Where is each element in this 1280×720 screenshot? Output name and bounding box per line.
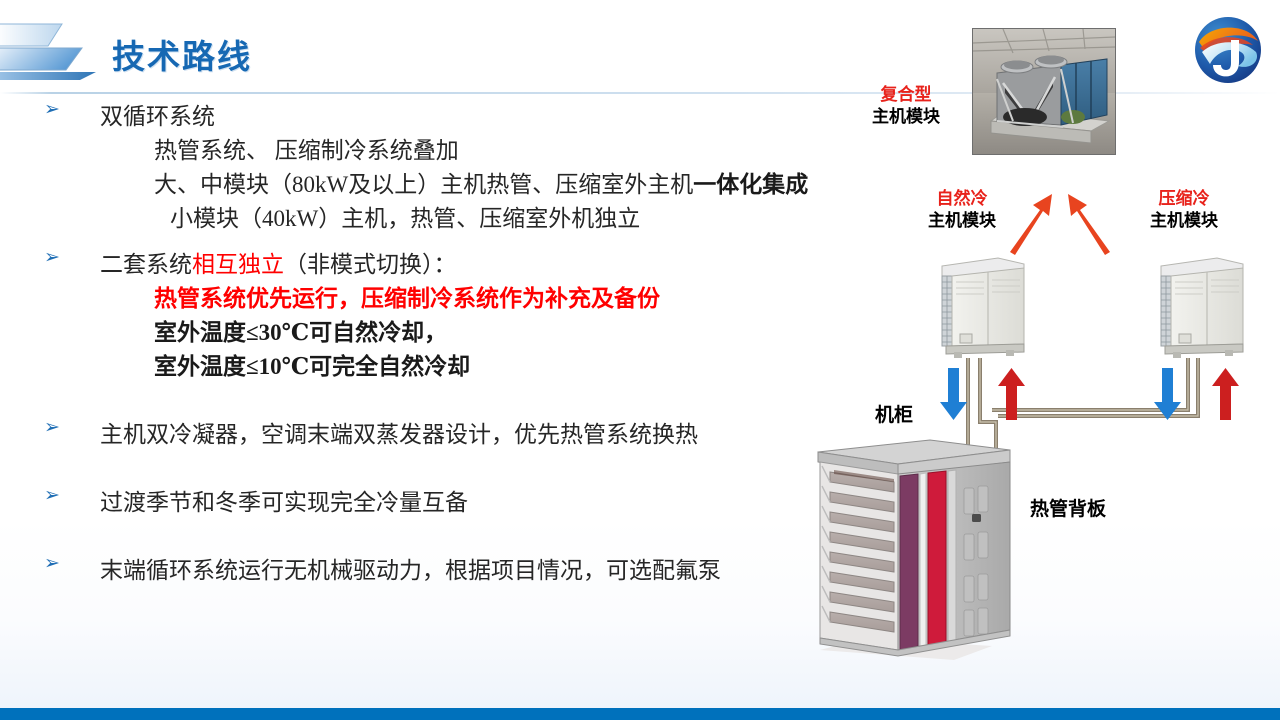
text-run: 室外温度≤30℃可自然冷却， — [154, 320, 447, 345]
bullet-group-4: ➢过渡季节和冬季可实现完全冷量互备 — [44, 486, 864, 520]
bullet-line: 主机双冷凝器，空调末端双蒸发器设计，优先热管系统换热 — [100, 418, 864, 452]
bullet-group-1: ➢双循环系统热管系统、 压缩制冷系统叠加大、中模块（80kW及以上）主机热管、压… — [44, 100, 864, 236]
text-run: 热管系统、 压缩制冷系统叠加 — [154, 138, 459, 163]
module-convergence-arrows — [1000, 186, 1120, 256]
header-decoration — [0, 18, 112, 80]
bullet-line: 过渡季节和冬季可实现完全冷量互备 — [100, 486, 864, 520]
bullet-arrow-icon: ➢ — [44, 248, 70, 267]
bullet-arrow-icon: ➢ — [44, 554, 70, 573]
text-run: 二套系统 — [100, 252, 192, 277]
text-run: 热管系统优先运行，压缩制冷系统作为补充及备份 — [154, 286, 660, 311]
bullet-line: 末端循环系统运行无机械驱动力，根据项目情况，可选配氟泵 — [100, 554, 864, 588]
text-run: 小模块（40kW）主机，热管、压缩室外机独立 — [170, 206, 640, 231]
text-run: 过渡季节和冬季可实现完全冷量互备 — [100, 490, 468, 515]
slide-canvas: 技术路线 — [0, 0, 1280, 720]
chiller-photo — [972, 28, 1116, 155]
text-run: 大、中模块（80kW及以上）主机热管、压缩室外主机 — [154, 172, 693, 197]
spacer — [44, 452, 864, 486]
bullet-group-2: ➢二套系统相互独立（非模式切换）：热管系统优先运行，压缩制冷系统作为补充及备份室… — [44, 248, 864, 384]
spacer — [44, 520, 864, 554]
label-natural-cooling-module: 自然冷 主机模块 — [928, 188, 996, 232]
bullet-content: ➢双循环系统热管系统、 压缩制冷系统叠加大、中模块（80kW及以上）主机热管、压… — [44, 100, 864, 588]
bullet-arrow-icon: ➢ — [44, 486, 70, 505]
spacer — [44, 236, 864, 248]
text-run: 一体化集成 — [693, 172, 808, 197]
server-rack-cabinet — [814, 424, 1034, 674]
bullet-group-5: ➢末端循环系统运行无机械驱动力，根据项目情况，可选配氟泵 — [44, 554, 864, 588]
spacer — [44, 384, 864, 418]
bullet-arrow-icon: ➢ — [44, 418, 70, 437]
bullet-line: 二套系统相互独立（非模式切换）： — [100, 248, 864, 282]
text-run: 室外温度≤10℃可完全自然冷却 — [154, 354, 470, 379]
label-compound-module: 复合型 主机模块 — [872, 84, 940, 128]
bullet-line: 热管系统、 压缩制冷系统叠加 — [154, 134, 864, 168]
label-compressor-cooling-module: 压缩冷 主机模块 — [1150, 188, 1218, 232]
bullet-arrow-icon: ➢ — [44, 100, 70, 119]
text-run: 主机双冷凝器，空调末端双蒸发器设计，优先热管系统换热 — [100, 422, 698, 447]
bullet-line: 小模块（40kW）主机，热管、压缩室外机独立 — [170, 202, 864, 236]
bullet-line: 双循环系统 — [100, 100, 864, 134]
text-run: 双循环系统 — [100, 104, 215, 129]
bullet-line: 室外温度≤30℃可自然冷却， — [154, 316, 864, 350]
label-heat-pipe-back-panel: 热管背板 — [1030, 498, 1106, 520]
system-diagram: 复合型 主机模块 自然冷 主机模块 压缩冷 主机模块 机柜 热管背板 — [800, 0, 1280, 720]
text-run: （非模式切换）： — [284, 252, 457, 277]
bullet-line: 大、中模块（80kW及以上）主机热管、压缩室外主机一体化集成 — [154, 168, 864, 202]
text-run: 相互独立 — [192, 252, 284, 277]
bullet-line: 热管系统优先运行，压缩制冷系统作为补充及备份 — [154, 282, 864, 316]
text-run: 末端循环系统运行无机械驱动力，根据项目情况，可选配氟泵 — [100, 558, 721, 583]
page-title: 技术路线 — [112, 30, 252, 78]
bullet-line: 室外温度≤10℃可完全自然冷却 — [154, 350, 864, 384]
bullet-group-3: ➢主机双冷凝器，空调末端双蒸发器设计，优先热管系统换热 — [44, 418, 864, 452]
